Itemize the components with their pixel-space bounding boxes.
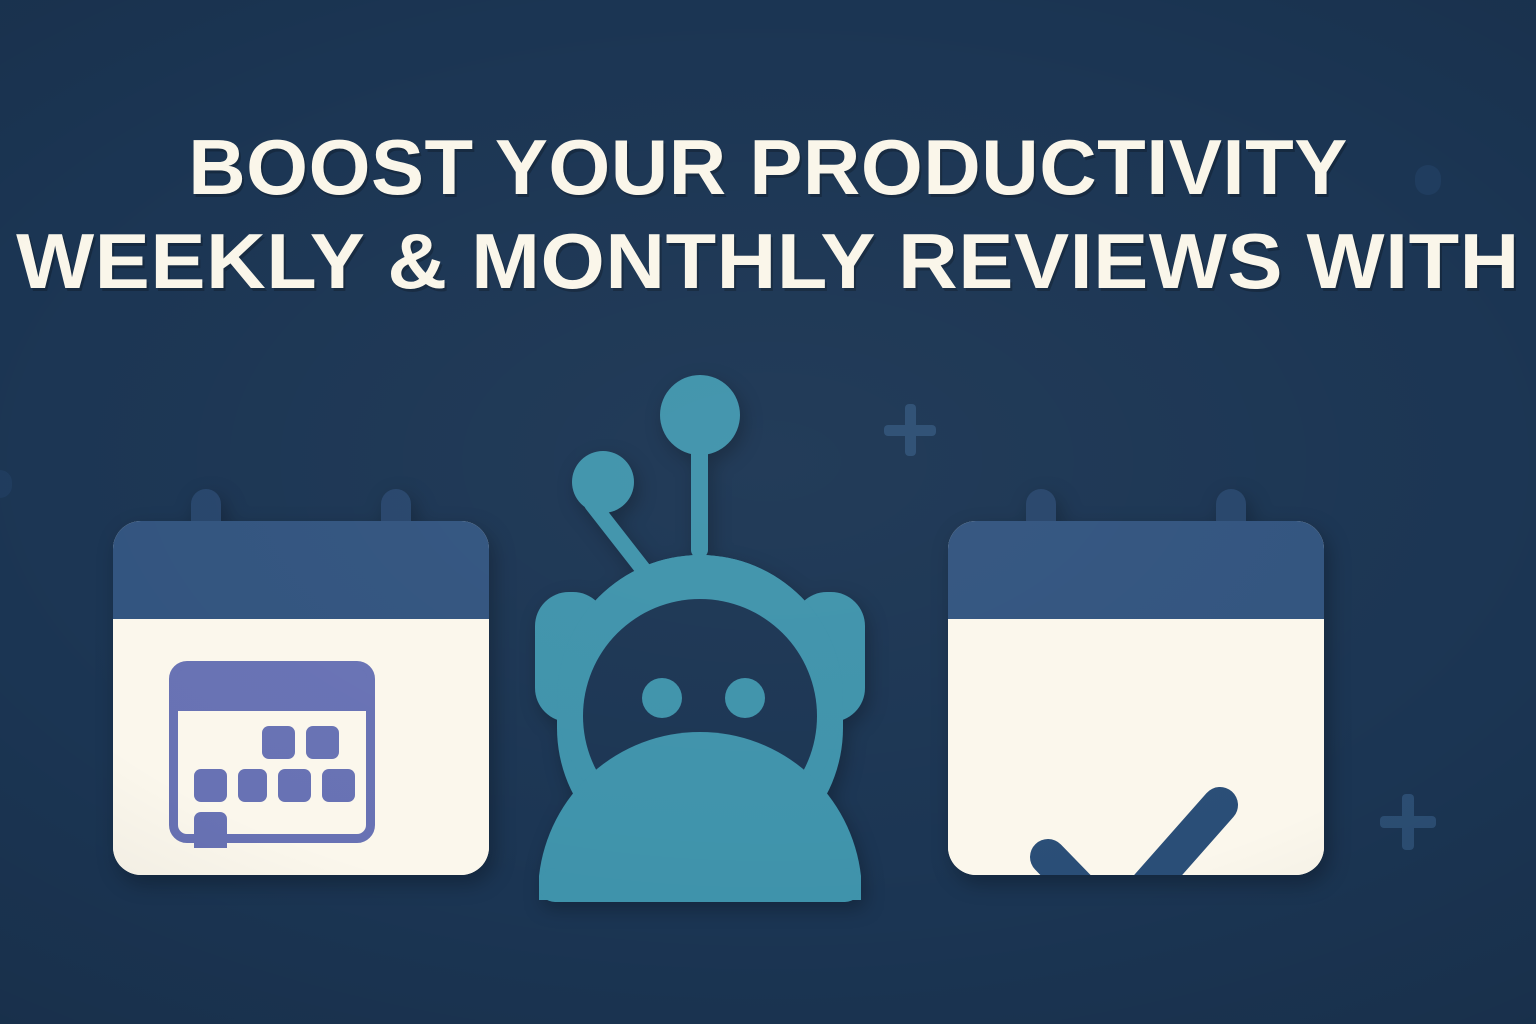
headline: BOOST YOUR PRODUCTIVITY WEEKLY & MONTHLY… [0, 128, 1536, 300]
robot-eye-left [642, 678, 682, 718]
checkmark-icon [948, 717, 1324, 875]
calendar-day-cell [194, 812, 227, 848]
schedule-calendar-icon [113, 489, 489, 875]
calendar-grid-frame [169, 661, 375, 843]
robot-assistant-icon [527, 368, 872, 903]
edge-blob-icon [0, 470, 12, 498]
poster-canvas: BOOST YOUR PRODUCTIVITY WEEKLY & MONTHLY… [0, 0, 1536, 1024]
plus-mark-icon [884, 404, 936, 456]
checkmark-container [948, 717, 1324, 875]
calendar-day-cell [262, 726, 295, 759]
calendar-day-cell [306, 726, 339, 759]
calendar-page [113, 619, 489, 875]
robot-antenna-ball-right [660, 375, 740, 455]
calendar-page [948, 619, 1324, 875]
plus-mark-icon [1380, 794, 1436, 850]
calendar-day-cell [322, 769, 355, 802]
calendar-body [948, 521, 1324, 875]
headline-line-2: WEEKLY & MONTHLY REVIEWS WITH [0, 222, 1536, 300]
robot-body-base [539, 868, 861, 902]
calendar-day-cell [278, 769, 311, 802]
calendar-grid-header [177, 669, 367, 711]
calendar-body [113, 521, 489, 875]
calendar-day-cell [238, 769, 267, 802]
robot-antenna-ball-left [572, 451, 634, 513]
robot-eye-right [725, 678, 765, 718]
calendar-day-cell [194, 769, 227, 802]
completed-calendar-icon [948, 489, 1324, 875]
calendar-header-band [948, 521, 1324, 621]
calendar-header-band [113, 521, 489, 621]
headline-line-1: BOOST YOUR PRODUCTIVITY [0, 128, 1536, 206]
